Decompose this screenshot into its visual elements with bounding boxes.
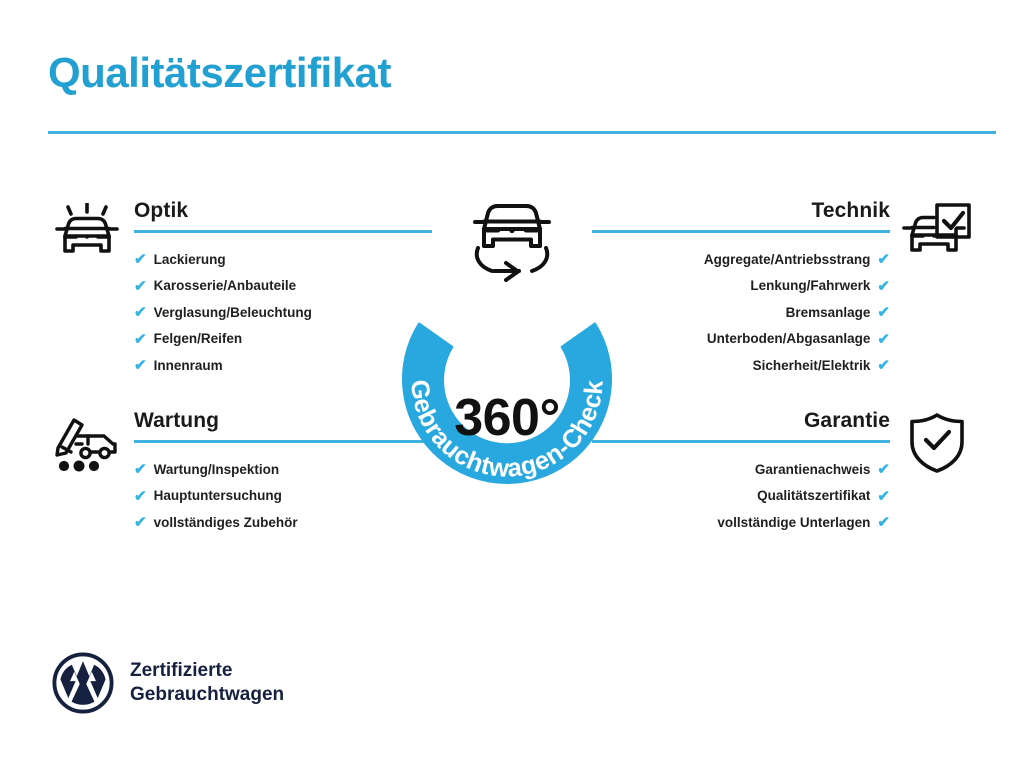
check-icon: ✔ (134, 515, 147, 530)
check-icon: ✔ (877, 358, 890, 373)
list-item-label: Felgen/Reifen (154, 332, 243, 346)
list-item-label: Innenraum (154, 359, 223, 373)
check-icon: ✔ (134, 252, 147, 267)
pencil-car-icon (48, 410, 126, 476)
vw-footer: Zertifizierte Gebrauchtwagen (52, 652, 284, 714)
list-item-label: Lenkung/Fahrwerk (750, 279, 870, 293)
vw-logo-icon (52, 652, 114, 714)
check-icon: ✔ (134, 305, 147, 320)
list-item-label: Bremsanlage (786, 306, 871, 320)
list-item-label: Aggregate/Antriebsstrang (704, 253, 871, 267)
check-icon: ✔ (877, 305, 890, 320)
check-icon: ✔ (134, 462, 147, 477)
list-item: vollständige Unterlagen✔ (592, 515, 890, 530)
badge-360-label: 360° (378, 392, 636, 444)
list-item-label: Qualitätszertifikat (757, 489, 870, 503)
vw-wordmark: Zertifizierte Gebrauchtwagen (130, 659, 284, 707)
check-icon: ✔ (877, 252, 890, 267)
list-item-label: Garantienachweis (755, 463, 871, 477)
vw-wordmark-line1: Zertifizierte (130, 659, 284, 683)
list-item-label: Lackierung (154, 253, 226, 267)
list-item: ✔vollständiges Zubehör (134, 515, 432, 530)
shield-check-icon (898, 410, 976, 476)
list-item-label: Unterboden/Abgasanlage (707, 332, 871, 346)
check-icon: ✔ (134, 489, 147, 504)
title-divider (48, 131, 996, 134)
list-item: Qualitätszertifikat✔ (592, 489, 890, 504)
badge-360-check: Gebrauchtwagen-Check 360° (378, 196, 646, 486)
list-item-label: vollständige Unterlagen (717, 516, 870, 530)
check-icon: ✔ (877, 489, 890, 504)
check-icon: ✔ (877, 332, 890, 347)
check-icon: ✔ (134, 358, 147, 373)
badge-ring: Gebrauchtwagen-Check (378, 252, 636, 510)
list-item-label: vollständiges Zubehör (154, 516, 298, 530)
car-checkbox-icon (898, 200, 976, 266)
check-icon: ✔ (877, 279, 890, 294)
car-rotate-icon (464, 196, 560, 284)
list-item-label: Verglasung/Beleuchtung (154, 306, 312, 320)
list-item-label: Karosserie/Anbauteile (154, 279, 297, 293)
list-item-label: Wartung/Inspektion (154, 463, 280, 477)
list-item-label: Sicherheit/Elektrik (753, 359, 871, 373)
check-icon: ✔ (134, 279, 147, 294)
page-title: Qualitätszertifikat (48, 52, 391, 94)
certificate-page: Qualitätszertifikat Optik ✔Lackier (0, 0, 1024, 768)
check-icon: ✔ (134, 332, 147, 347)
car-shine-icon (48, 200, 126, 266)
vw-wordmark-line2: Gebrauchtwagen (130, 683, 284, 707)
list-item-label: Hauptuntersuchung (154, 489, 282, 503)
check-icon: ✔ (877, 515, 890, 530)
check-icon: ✔ (877, 462, 890, 477)
